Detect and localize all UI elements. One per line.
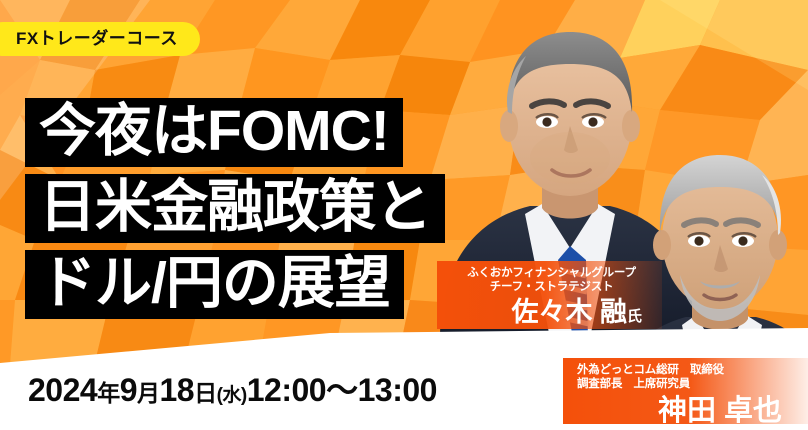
- date-year-unit: 年: [97, 380, 120, 406]
- speaker-name-text: 佐々木 融: [511, 297, 627, 327]
- speaker-name-text: 神田 卓也: [658, 395, 782, 427]
- speaker-name: 神田 卓也: [575, 397, 798, 426]
- speaker-name: 佐々木 融氏: [449, 299, 652, 326]
- date-month-unit: 月: [137, 380, 160, 406]
- date-day-unit: 日: [194, 380, 217, 406]
- event-datetime: 2024年9月18日(水)12:00〜13:00: [28, 374, 437, 406]
- course-badge: FXトレーダーコース: [0, 22, 200, 56]
- date-month: 9: [120, 372, 137, 408]
- webinar-banner: FXトレーダーコース 今夜はFOMC! 日米金融政策と ドル/円の展望 2024…: [0, 0, 808, 430]
- speaker-nameplate-kanda: 外為どっとコム総研 取締役 調査部長 上席研究員 神田 卓也: [563, 358, 808, 424]
- speaker-organization-line1: 外為どっとコム総研 取締役: [575, 363, 798, 377]
- headline-line-1: 今夜はFOMC!: [25, 98, 403, 167]
- time-separator: 〜: [326, 372, 358, 408]
- date-day: 18: [159, 372, 194, 408]
- speaker-name-suffix: 氏: [627, 308, 642, 325]
- date-year: 2024: [28, 372, 97, 408]
- time-start: 12:00: [247, 372, 326, 408]
- headline: 今夜はFOMC! 日米金融政策と ドル/円の展望: [0, 98, 445, 319]
- headline-line-2: 日米金融政策と: [25, 174, 445, 243]
- date-weekday: (水): [217, 385, 247, 406]
- speaker-organization-line2: チーフ・ストラテジスト: [449, 280, 652, 294]
- time-end: 13:00: [358, 372, 437, 408]
- speaker-organization-line2: 調査部長 上席研究員: [575, 377, 798, 391]
- speaker-organization-line1: ふくおかフィナンシャルグループ: [449, 266, 652, 280]
- speaker-nameplate-sasaki: ふくおかフィナンシャルグループ チーフ・ストラテジスト 佐々木 融氏: [437, 261, 662, 329]
- headline-line-3: ドル/円の展望: [25, 250, 404, 319]
